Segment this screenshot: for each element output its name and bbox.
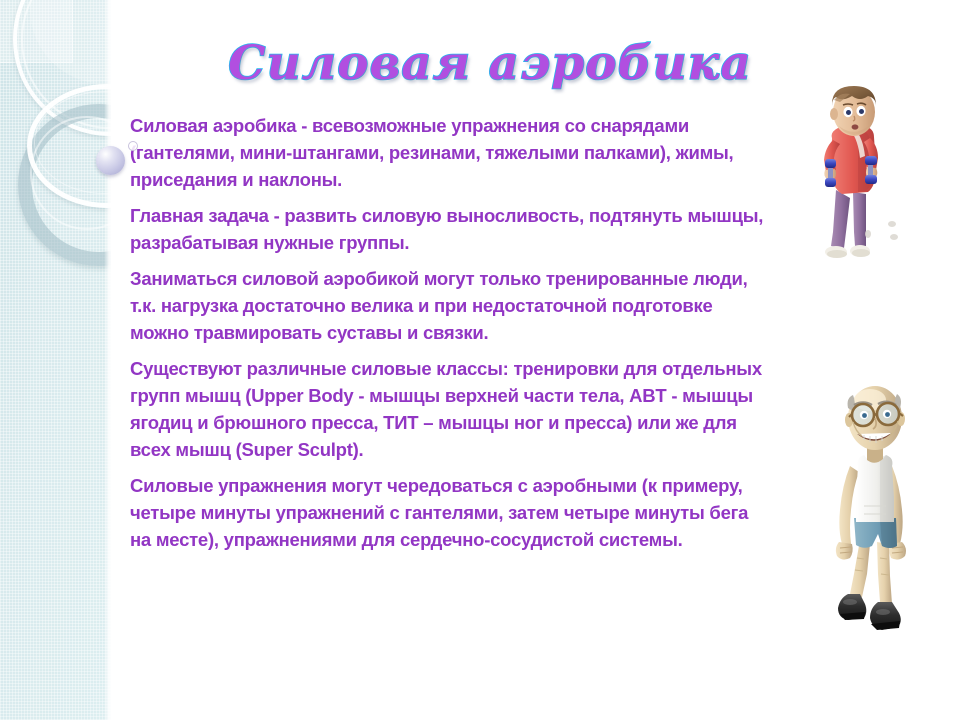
lavender-sphere-icon [96, 146, 125, 175]
slide-body: Силовая аэробика - всевозможные упражнен… [130, 112, 770, 562]
small-circle-bullet-icon [128, 141, 138, 151]
body-paragraph: Силовые упражнения могут чередоваться с … [130, 472, 770, 553]
slide-title: Силовая аэробика [130, 36, 850, 91]
body-paragraph: Существуют различные силовые классы: тре… [130, 355, 770, 463]
presentation-slide: Силовая аэробика Силовая аэробика - всев… [0, 0, 960, 720]
decorative-sidebar [0, 0, 111, 720]
child-with-dumbbells-illustration [806, 82, 924, 264]
shoe-left [838, 594, 866, 620]
elderly-man-illustration [820, 378, 940, 650]
shoe-right [870, 602, 901, 630]
body-paragraph: Заниматься силовой аэробикой могут тольк… [130, 265, 770, 346]
sidebar-edge-gradient [104, 0, 111, 720]
body-paragraph: Силовая аэробика - всевозможные упражнен… [130, 112, 770, 193]
body-paragraph: Главная задача - развить силовую выносли… [130, 202, 770, 256]
